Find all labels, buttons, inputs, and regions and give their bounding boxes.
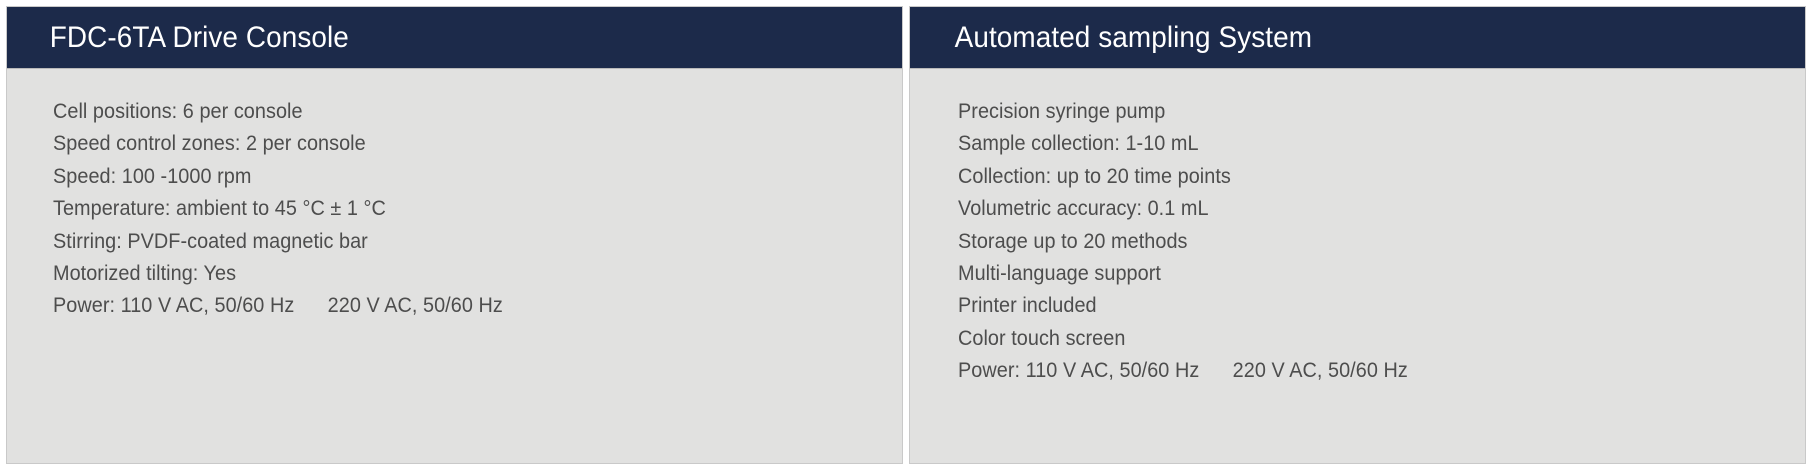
spec-item: Power: 110 V AC, 50/60 Hz 220 V AC, 50/6… xyxy=(53,290,855,322)
panel-title-drive-console: FDC-6TA Drive Console xyxy=(7,23,349,53)
panel-header-drive-console: FDC-6TA Drive Console xyxy=(7,7,902,69)
spec-item: Stirring: PVDF-coated magnetic bar xyxy=(53,226,855,258)
spec-item: Speed control zones: 2 per console xyxy=(53,128,855,160)
specification-board: FDC-6TA Drive Console Cell positions: 6 … xyxy=(0,0,1812,475)
spec-item: Printer included xyxy=(958,290,1758,322)
spec-item: Motorized tilting: Yes xyxy=(53,258,855,290)
spec-item: Cell positions: 6 per console xyxy=(53,96,855,128)
spec-item: Color touch screen xyxy=(958,323,1758,355)
spec-item: Precision syringe pump xyxy=(958,96,1758,128)
spec-item: Speed: 100 -1000 rpm xyxy=(53,161,855,193)
spec-panel-automated-sampling-system: Automated sampling System Precision syri… xyxy=(909,6,1806,464)
spec-item: Sample collection: 1-10 mL xyxy=(958,128,1758,160)
spec-item: Multi-language support xyxy=(958,258,1758,290)
panel-title-automated-sampling-system: Automated sampling System xyxy=(910,23,1312,53)
spec-list-automated-sampling-system: Precision syringe pump Sample collection… xyxy=(958,96,1805,388)
spec-item: Storage up to 20 methods xyxy=(958,226,1758,258)
spec-item: Volumetric accuracy: 0.1 mL xyxy=(958,193,1758,225)
spec-list-drive-console: Cell positions: 6 per console Speed cont… xyxy=(53,96,902,323)
spec-item: Collection: up to 20 time points xyxy=(958,161,1758,193)
spec-item: Temperature: ambient to 45 °C ± 1 °C xyxy=(53,193,855,225)
spec-item: Power: 110 V AC, 50/60 Hz 220 V AC, 50/6… xyxy=(958,355,1758,387)
panel-header-automated-sampling-system: Automated sampling System xyxy=(910,7,1805,69)
spec-panel-drive-console: FDC-6TA Drive Console Cell positions: 6 … xyxy=(6,6,903,464)
panel-body-drive-console: Cell positions: 6 per console Speed cont… xyxy=(7,69,902,463)
panel-body-automated-sampling-system: Precision syringe pump Sample collection… xyxy=(910,69,1805,463)
